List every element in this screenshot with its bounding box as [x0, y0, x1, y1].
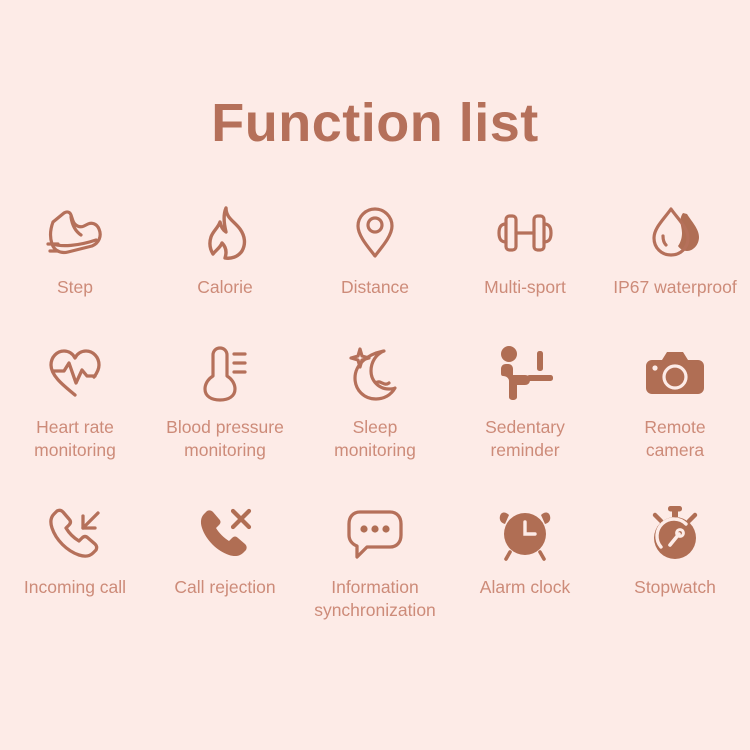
feature-label: Incoming call [0, 576, 158, 599]
feature-label: Stopwatch [600, 576, 750, 599]
feature-item-incoming-call[interactable]: Incoming call [0, 502, 150, 642]
feature-label: Call rejection [143, 576, 308, 599]
feature-label: Calorie [150, 276, 300, 299]
feature-item-step[interactable]: Step [0, 202, 150, 342]
feature-item-alarm-clock[interactable]: Alarm clock [450, 502, 600, 642]
phone-reject-icon [196, 502, 254, 564]
feature-label: Alarm clock [450, 576, 600, 599]
chat-bubble-dots-icon [345, 502, 405, 564]
heart-pulse-icon [45, 342, 105, 404]
moon-star-icon [346, 342, 404, 404]
feature-item-calorie[interactable]: Calorie [150, 202, 300, 342]
alarm-clock-icon [497, 502, 553, 564]
camera-icon [644, 342, 706, 404]
feature-label: Step [0, 276, 150, 299]
feature-label: Information synchronization [293, 576, 458, 622]
dumbbell-icon [493, 202, 557, 264]
feature-item-distance[interactable]: Distance [300, 202, 450, 342]
feature-item-sedentary[interactable]: Sedentary reminder [450, 342, 600, 502]
feature-item-multi-sport[interactable]: Multi-sport [450, 202, 600, 342]
feature-item-call-rejection[interactable]: Call rejection [150, 502, 300, 642]
feature-item-heart-rate[interactable]: Heart rate monitoring [0, 342, 150, 502]
sitting-person-desk-icon [495, 342, 555, 404]
feature-item-remote-camera[interactable]: Remote camera [600, 342, 750, 502]
feature-label: Sedentary reminder [450, 416, 600, 462]
feature-label: Blood pressure monitoring [143, 416, 308, 462]
feature-item-waterproof[interactable]: IP67 waterproof [600, 202, 750, 342]
page-title: Function list [0, 0, 750, 150]
feature-item-stopwatch[interactable]: Stopwatch [600, 502, 750, 642]
feature-item-sleep[interactable]: Sleep monitoring [300, 342, 450, 502]
feature-label: Distance [300, 276, 450, 299]
feature-item-blood-pressure[interactable]: Blood pressure monitoring [150, 342, 300, 502]
function-list-page: Function list Step Calorie [0, 0, 750, 750]
stopwatch-icon [646, 502, 704, 564]
location-pin-icon [351, 202, 399, 264]
feature-label: Heart rate monitoring [0, 416, 150, 462]
feature-label: Multi-sport [450, 276, 600, 299]
feature-label: Sleep monitoring [300, 416, 450, 462]
running-shoe-icon [44, 202, 106, 264]
feature-label: Remote camera [600, 416, 750, 462]
phone-incoming-icon [46, 502, 104, 564]
feature-item-info-sync[interactable]: Information synchronization [300, 502, 450, 642]
feature-label: IP67 waterproof [593, 276, 750, 299]
feature-grid: Step Calorie Distance [0, 202, 750, 642]
thermometer-icon [201, 342, 249, 404]
water-drop-icon [647, 202, 703, 264]
flame-icon [199, 202, 251, 264]
